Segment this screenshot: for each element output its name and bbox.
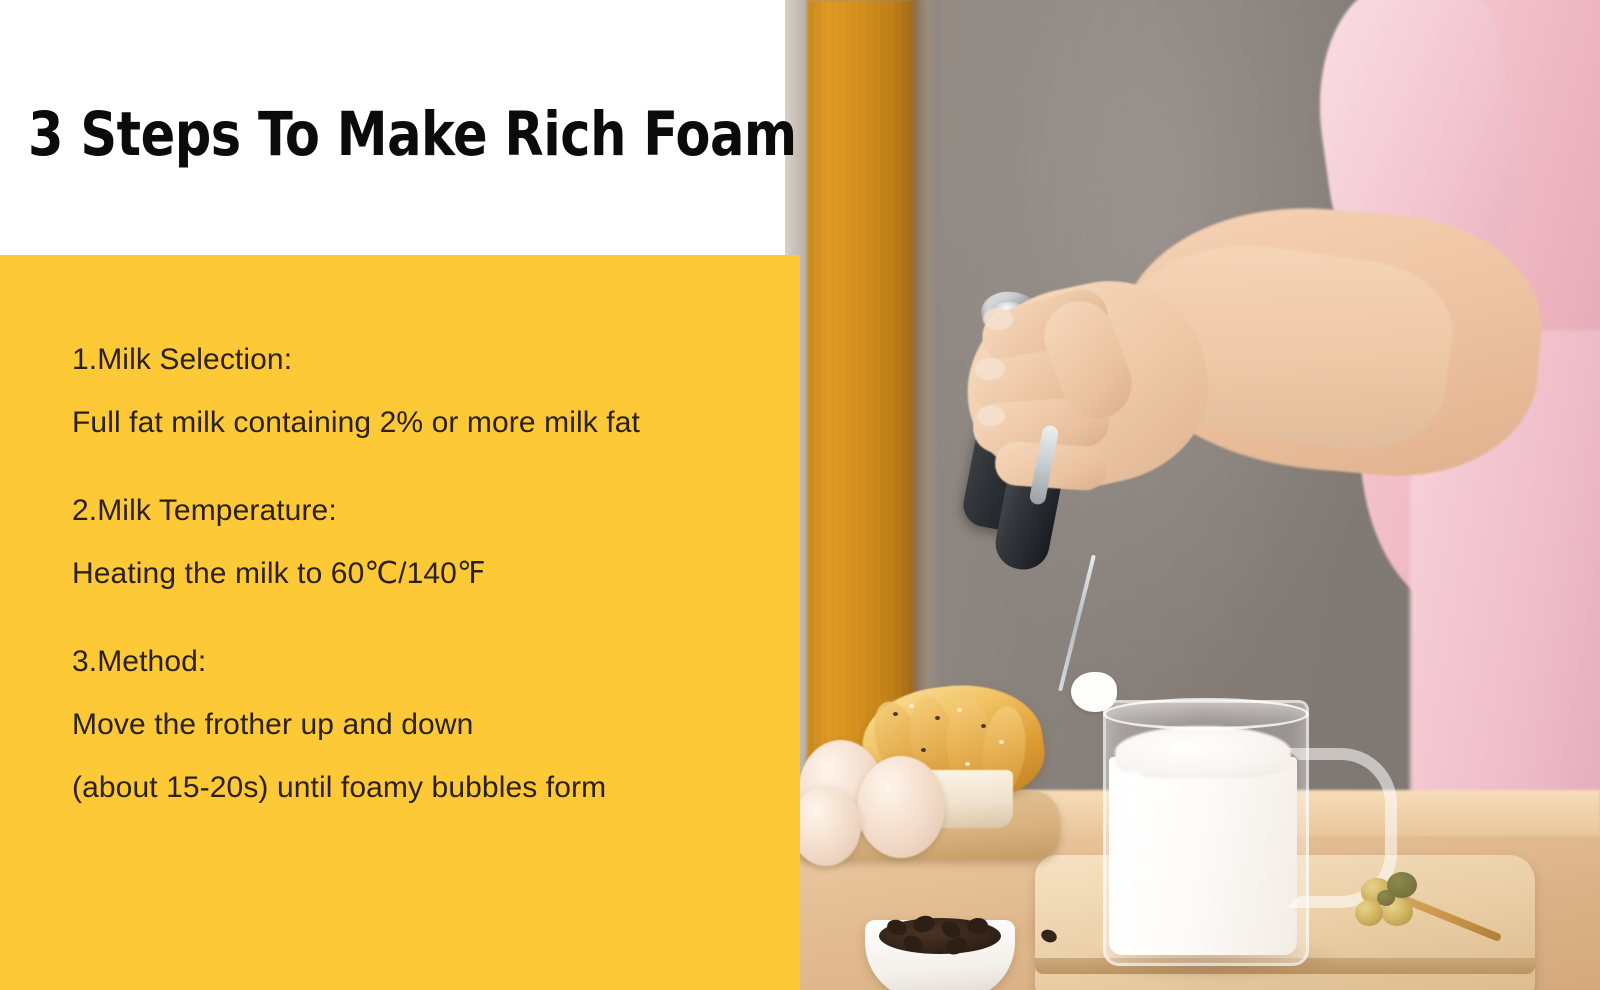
sesame-seed [999, 740, 1004, 744]
step-detail: Move the frother up and down [72, 710, 772, 740]
sesame-seed [981, 724, 986, 728]
sesame-seed [957, 708, 962, 712]
fingernail [977, 406, 1005, 426]
steps-list: 1.Milk Selection: Full fat milk containi… [72, 345, 772, 803]
gold-flower-center [1377, 890, 1395, 906]
step-item: 3.Method: Move the frother up and down (… [72, 647, 772, 803]
mug-rim [1103, 698, 1309, 730]
egg [791, 786, 861, 866]
sesame-seed [935, 716, 940, 720]
info-panel: 3 Steps To Make Rich Foam 1.Milk Selecti… [0, 0, 800, 990]
step-item: 1.Milk Selection: Full fat milk containi… [72, 345, 772, 438]
step-heading: 3.Method: [72, 647, 772, 677]
step-detail: (about 15-20s) until foamy bubbles form [72, 773, 772, 803]
step-item: 2.Milk Temperature: Heating the milk to … [72, 496, 772, 589]
promo-banner: 3 Steps To Make Rich Foam 1.Milk Selecti… [0, 0, 1600, 990]
fingernail [975, 358, 1005, 380]
gold-flower-petal [1355, 900, 1383, 926]
egg [857, 756, 945, 858]
sesame-seed [965, 762, 970, 766]
milk-foam [1115, 726, 1291, 778]
step-heading: 1.Milk Selection: [72, 345, 772, 375]
product-photo [785, 0, 1600, 990]
page-title: 3 Steps To Make Rich Foam [28, 104, 797, 165]
mug-glass-highlight [1125, 770, 1143, 930]
sesame-seed [893, 712, 898, 716]
fingernail [983, 308, 1013, 330]
step-detail: Heating the milk to 60℃/140℉ [72, 559, 772, 589]
sesame-seed [909, 704, 914, 708]
sesame-seed [921, 748, 926, 752]
step-heading: 2.Milk Temperature: [72, 496, 772, 526]
step-detail: Full fat milk containing 2% or more milk… [72, 408, 772, 438]
